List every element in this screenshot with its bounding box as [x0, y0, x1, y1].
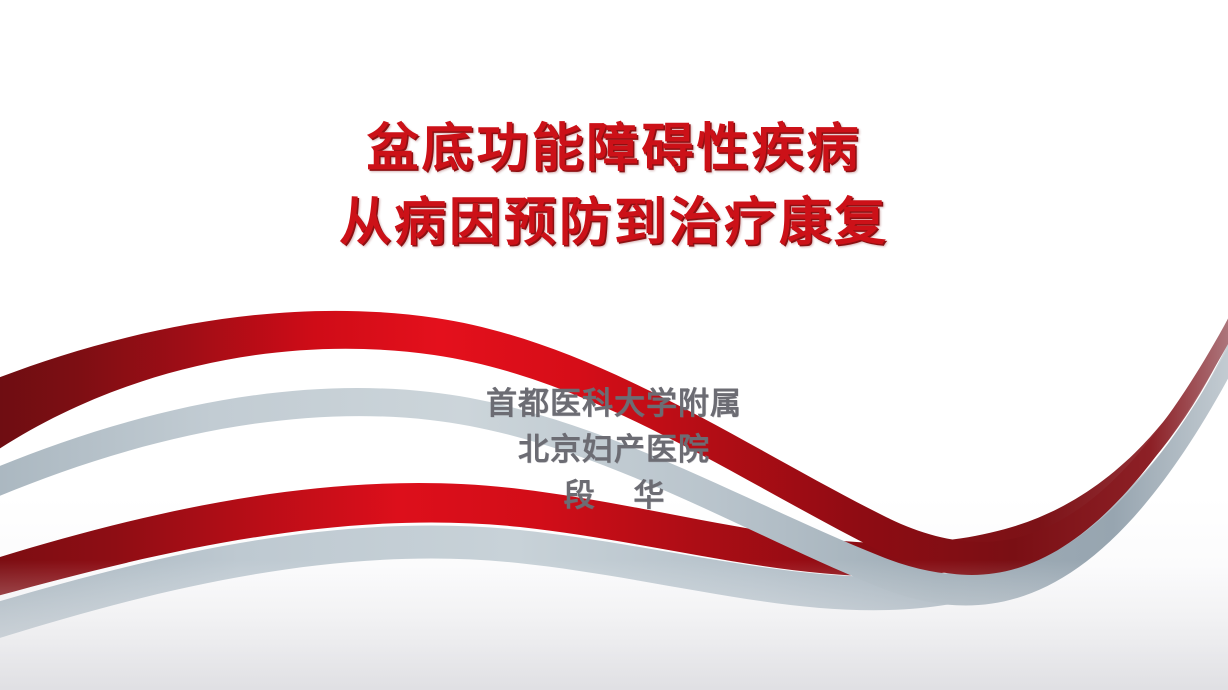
page-title: 盆底功能障碍性疾病 从病因预防到治疗康复 — [0, 112, 1228, 260]
swoosh-ribbon-graphic — [0, 0, 1228, 690]
title-line-1: 盆底功能障碍性疾病 — [0, 112, 1228, 186]
institution-line-2: 北京妇产医院 — [0, 427, 1228, 473]
title-slide: 盆底功能障碍性疾病 从病因预防到治疗康复 首都医科大学附属 北京妇产医院 段 华 — [0, 0, 1228, 690]
presenter-name: 段 华 — [0, 473, 1228, 519]
subtitle-block: 首都医科大学附属 北京妇产医院 段 华 — [0, 381, 1228, 519]
bottom-fade — [0, 560, 1228, 690]
institution-line-1: 首都医科大学附属 — [0, 381, 1228, 427]
title-line-2: 从病因预防到治疗康复 — [0, 186, 1228, 260]
